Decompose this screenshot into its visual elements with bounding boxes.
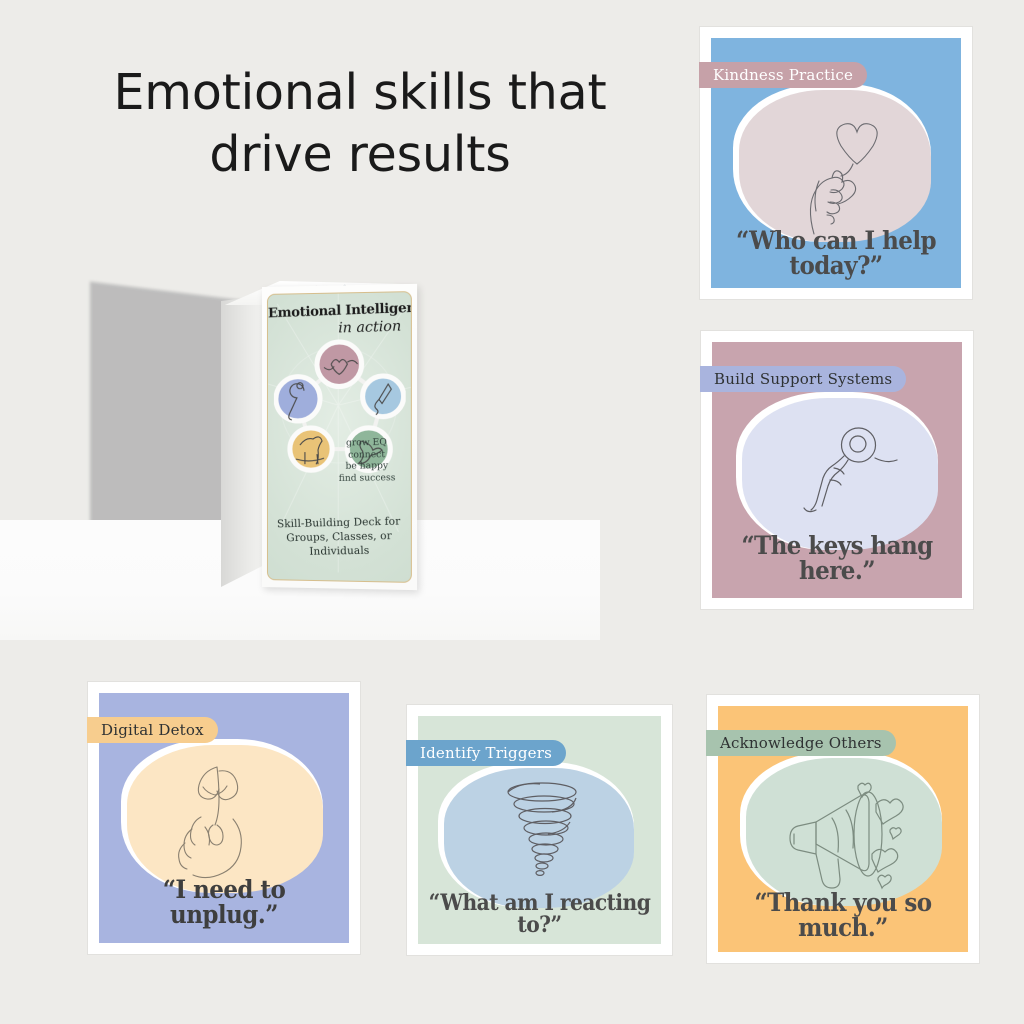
tornado-icon	[500, 778, 584, 898]
flashcard-kindness[interactable]: “Who can I help today?” Kindness Practic…	[700, 27, 972, 299]
box-subtitle: in action	[338, 318, 401, 336]
card-inner: “Thank you so much.” Acknowledge Others	[718, 706, 968, 952]
card-quote: “The keys hang here.”	[722, 533, 952, 583]
page-title: Emotional skills that drive results	[60, 62, 660, 185]
card-quote: “I need to unplug.”	[109, 877, 339, 927]
box-side-panel	[221, 295, 267, 587]
box-artwork: Emotional Intelligence in action	[267, 291, 412, 583]
card-label: Acknowledge Others	[720, 734, 882, 752]
card-inner: “The keys hang here.” Build Support Syst…	[712, 342, 962, 598]
key-icon	[796, 418, 906, 530]
card-label: Digital Detox	[101, 721, 204, 739]
butterfly-on-hand-icon	[161, 757, 271, 887]
flashcard-triggers[interactable]: “What am I reacting to?” Identify Trigge…	[407, 705, 672, 955]
card-label: Identify Triggers	[420, 744, 552, 762]
card-label-banner[interactable]: Kindness Practice	[699, 62, 867, 88]
card-label-banner[interactable]: Identify Triggers	[406, 740, 566, 766]
card-inner: “What am I reacting to?” Identify Trigge…	[418, 716, 661, 944]
card-inner: “Who can I help today?” Kindness Practic…	[711, 38, 961, 288]
heart-node	[317, 342, 362, 387]
card-label: Kindness Practice	[713, 66, 853, 84]
megaphone-with-hearts-icon	[772, 768, 922, 898]
hand-holding-heart-icon	[797, 104, 881, 238]
flashcard-detox[interactable]: “I need to unplug.” Digital Detox	[88, 682, 360, 954]
card-label-banner[interactable]: Build Support Systems	[700, 366, 906, 392]
card-label: Build Support Systems	[714, 370, 892, 388]
card-quote: “Who can I help today?”	[721, 228, 951, 278]
box-tagline: grow EQ connect be happy find success	[329, 437, 405, 485]
card-quote: “What am I reacting to?”	[428, 892, 652, 936]
product-box: say that Emotional Intelligence in actio…	[95, 275, 555, 620]
horse-node	[290, 428, 332, 470]
box-footer-text: Skill-Building Deck for Groups, Classes,…	[267, 514, 411, 560]
pen-node	[363, 376, 404, 417]
card-label-banner[interactable]: Digital Detox	[87, 717, 218, 743]
card-inner: “I need to unplug.” Digital Detox	[99, 693, 349, 943]
flashcard-acknowledge[interactable]: “Thank you so much.” Acknowledge Others	[707, 695, 979, 963]
box-front-panel: Emotional Intelligence in action	[262, 284, 417, 590]
flashcard-support[interactable]: “The keys hang here.” Build Support Syst…	[701, 331, 973, 609]
listing-canvas: Emotional skills that drive results say …	[0, 0, 1024, 1024]
card-label-banner[interactable]: Acknowledge Others	[706, 730, 896, 756]
card-quote: “Thank you so much.”	[728, 890, 958, 940]
